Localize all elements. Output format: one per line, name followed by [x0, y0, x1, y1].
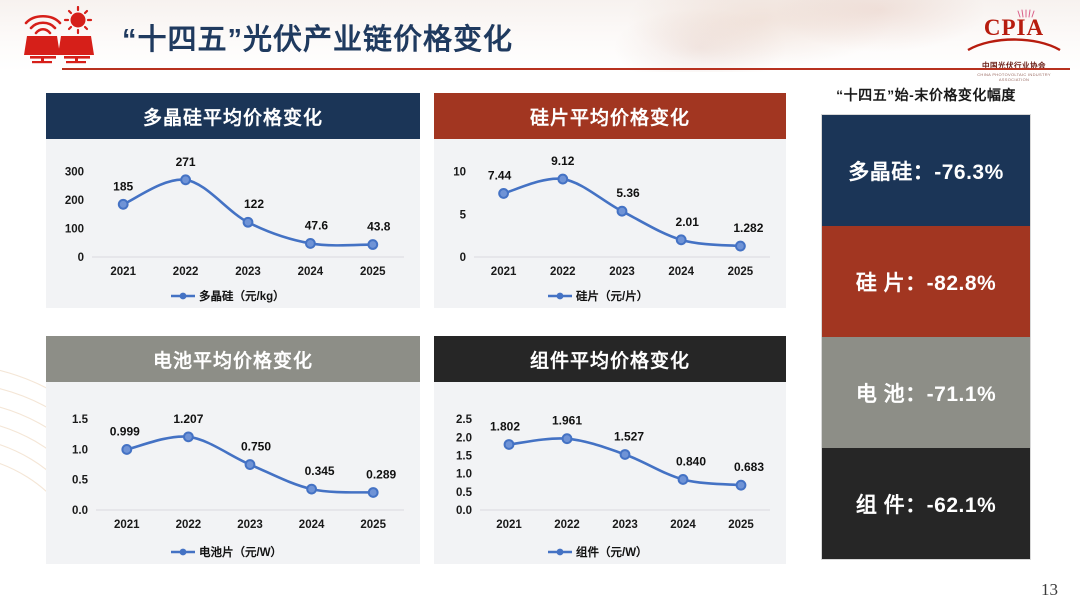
line-chart-cell: 0.00.51.01.5202120222023202420250.9991.2… [46, 382, 420, 564]
data-point-label: 271 [176, 155, 196, 169]
legend-marker-icon [180, 549, 187, 556]
solar-panel-icon [16, 6, 102, 64]
y-axis-tick: 1.5 [72, 414, 89, 426]
data-point-label: 47.6 [305, 218, 329, 232]
data-point-label: 1.527 [614, 429, 644, 443]
data-point-marker [122, 445, 131, 454]
data-point-marker [679, 475, 688, 484]
chart-card-polysilicon: 多晶硅平均价格变化 010020030020212022202320242025… [46, 93, 420, 308]
summary-row-cell: 电 池：-71.1% [822, 337, 1030, 448]
legend-marker-icon [180, 293, 187, 300]
legend-label: 硅片（元/片） [576, 289, 648, 303]
cpia-name-en: CHINA PHOTOVOLTAIC INDUSTRY ASSOCIATION [962, 72, 1066, 82]
x-axis-tick: 2025 [728, 519, 754, 531]
legend-label: 电池片（元/W） [199, 545, 282, 559]
chart-title-wafer: 硅片平均价格变化 [434, 93, 786, 139]
data-point-label: 0.345 [305, 464, 335, 478]
data-point-marker [736, 242, 745, 251]
y-axis-tick: 100 [65, 224, 84, 236]
data-point-label: 0.999 [110, 424, 140, 438]
y-axis-tick: 1.5 [456, 450, 473, 462]
cpia-arc-icon [962, 37, 1066, 51]
summary-row-wafer: 硅 片：-82.8% [822, 226, 1030, 337]
chart-title-polysilicon: 多晶硅平均价格变化 [46, 93, 420, 139]
x-axis-tick: 2023 [237, 519, 263, 531]
chart-title-cell: 电池平均价格变化 [46, 336, 420, 382]
summary-rows: 多晶硅：-76.3% 硅 片：-82.8% 电 池：-71.1% 组 件：-62… [821, 114, 1031, 560]
header-divider-rule [62, 68, 1070, 70]
data-point-marker [621, 450, 630, 459]
x-axis-tick: 2023 [612, 519, 638, 531]
legend-marker-icon [557, 549, 564, 556]
line-chart-polysilicon: 0100200300202120222023202420251852711224… [46, 139, 420, 308]
x-axis-tick: 2024 [298, 266, 324, 278]
page-header: “十四五”光伏产业链价格变化 CPIA 中国光伏行业协会 CHINA PHOTO… [0, 0, 1080, 72]
data-point-marker [307, 485, 316, 494]
summary-panel: “十四五”始-末价格变化幅度 多晶硅：-76.3% 硅 片：-82.8% 电 池… [812, 85, 1040, 560]
y-axis-tick: 0.5 [456, 487, 473, 499]
y-axis-tick: 5 [460, 209, 467, 221]
x-axis-tick: 2021 [491, 266, 517, 278]
page-number: 13 [1041, 580, 1058, 600]
x-axis-tick: 2024 [670, 519, 696, 531]
summary-row-label: 电 池：-71.1% [856, 378, 996, 408]
x-axis-tick: 2024 [299, 519, 325, 531]
data-point-marker [184, 432, 193, 441]
y-axis-tick: 200 [65, 195, 84, 207]
data-point-marker [244, 218, 253, 227]
data-point-marker [306, 239, 315, 248]
chart-title-module: 组件平均价格变化 [434, 336, 786, 382]
data-point-label: 43.8 [367, 220, 391, 234]
data-point-label: 0.289 [366, 467, 396, 481]
summary-row-label: 多晶硅：-76.3% [848, 156, 1004, 186]
data-point-label: 1.207 [173, 412, 203, 426]
data-point-label: 1.802 [490, 419, 520, 433]
x-axis-tick: 2025 [360, 519, 386, 531]
y-axis-tick: 300 [65, 167, 84, 179]
data-point-marker [505, 440, 514, 449]
legend-marker-icon [557, 293, 564, 300]
x-axis-tick: 2022 [554, 519, 580, 531]
y-axis-tick: 1.0 [72, 444, 88, 456]
chart-card-module: 组件平均价格变化 0.00.51.01.52.02.52021202220232… [434, 336, 786, 564]
chart-body-module: 0.00.51.01.52.02.5202120222023202420251.… [434, 382, 786, 564]
x-axis-tick: 2022 [173, 266, 199, 278]
series-line [123, 180, 373, 246]
data-point-marker [563, 434, 572, 443]
y-axis-tick: 0 [78, 252, 84, 264]
summary-row-label: 组 件：-62.1% [856, 489, 996, 519]
data-point-marker [246, 460, 255, 469]
data-point-label: 2.01 [676, 215, 700, 229]
y-axis-tick: 0.0 [456, 505, 472, 517]
data-point-label: 185 [113, 179, 133, 193]
data-point-marker [181, 175, 190, 184]
chart-body-cell: 0.00.51.01.5202120222023202420250.9991.2… [46, 382, 420, 564]
x-axis-tick: 2021 [114, 519, 140, 531]
chart-card-wafer: 硅片平均价格变化 0510202120222023202420257.449.1… [434, 93, 786, 308]
data-point-label: 1.961 [552, 414, 582, 428]
data-point-label: 5.36 [616, 186, 640, 200]
x-axis-tick: 2021 [110, 266, 136, 278]
x-axis-tick: 2021 [496, 519, 522, 531]
y-axis-tick: 10 [453, 167, 466, 179]
cpia-logo: CPIA 中国光伏行业协会 CHINA PHOTOVOLTAIC INDUSTR… [962, 6, 1066, 64]
summary-row-module: 组 件：-62.1% [822, 448, 1030, 559]
line-chart-wafer: 0510202120222023202420257.449.125.362.01… [434, 139, 786, 308]
data-point-label: 0.750 [241, 440, 271, 454]
data-point-marker [368, 240, 377, 249]
cpia-sun-icon [962, 8, 1066, 20]
y-axis-tick: 2.5 [456, 414, 473, 426]
data-point-marker [618, 207, 627, 216]
chart-legend: 硅片（元/片） [548, 289, 648, 303]
data-point-label: 7.44 [488, 168, 512, 182]
y-axis-tick: 1.0 [456, 469, 472, 481]
data-point-label: 0.840 [676, 454, 706, 468]
y-axis-tick: 0.5 [72, 475, 89, 487]
data-point-label: 1.282 [733, 221, 763, 235]
x-axis-tick: 2024 [668, 266, 694, 278]
summary-panel-title: “十四五”始-末价格变化幅度 [812, 85, 1040, 105]
data-point-label: 122 [244, 197, 264, 211]
data-point-label: 0.683 [734, 460, 764, 474]
chart-body-polysilicon: 0100200300202120222023202420251852711224… [46, 139, 420, 308]
y-axis-tick: 2.0 [456, 432, 472, 444]
x-axis-tick: 2023 [609, 266, 635, 278]
legend-label: 组件（元/W） [576, 545, 648, 559]
x-axis-tick: 2022 [176, 519, 202, 531]
data-point-marker [677, 235, 686, 244]
chart-card-cell: 电池平均价格变化 0.00.51.01.52021202220232024202… [46, 336, 420, 564]
series-line [509, 438, 741, 485]
page-title: “十四五”光伏产业链价格变化 [122, 16, 513, 58]
y-axis-tick: 0.0 [72, 505, 88, 517]
chart-legend: 多晶硅（元/kg） [171, 289, 285, 303]
x-axis-tick: 2025 [728, 266, 754, 278]
summary-row-polysilicon: 多晶硅：-76.3% [822, 115, 1030, 226]
data-point-marker [369, 488, 378, 497]
chart-body-wafer: 0510202120222023202420257.449.125.362.01… [434, 139, 786, 308]
data-point-label: 9.12 [551, 154, 575, 168]
x-axis-tick: 2025 [360, 266, 386, 278]
legend-label: 多晶硅（元/kg） [199, 289, 285, 303]
data-point-marker [499, 189, 508, 198]
chart-legend: 电池片（元/W） [171, 545, 282, 559]
x-axis-tick: 2023 [235, 266, 261, 278]
chart-legend: 组件（元/W） [548, 545, 648, 559]
x-axis-tick: 2022 [550, 266, 576, 278]
data-point-marker [558, 175, 567, 184]
line-chart-module: 0.00.51.01.52.02.5202120222023202420251.… [434, 382, 786, 564]
summary-row-label: 硅 片：-82.8% [856, 267, 996, 297]
data-point-marker [119, 200, 128, 209]
y-axis-tick: 0 [460, 252, 466, 264]
data-point-marker [737, 481, 746, 490]
